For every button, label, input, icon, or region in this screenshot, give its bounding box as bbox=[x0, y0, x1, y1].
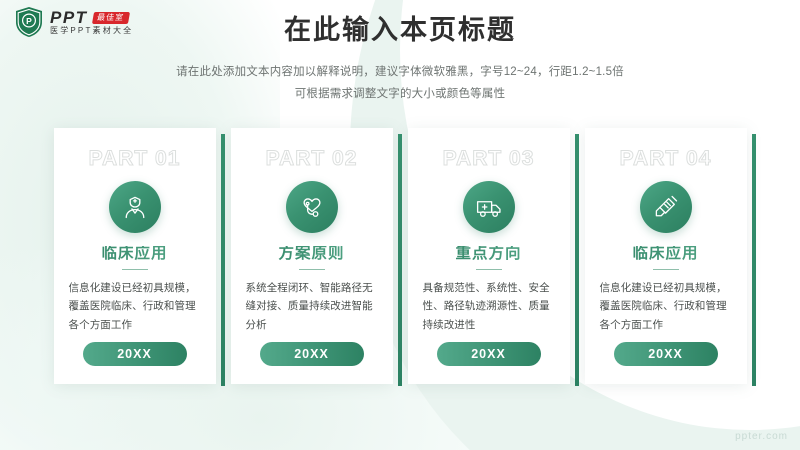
doctor-icon bbox=[121, 193, 149, 221]
card-heading: 方案原则 bbox=[243, 246, 381, 262]
page-subtitle-line-2: 可根据需求调整文字的大小或颜色等属性 bbox=[0, 84, 800, 105]
card-divider bbox=[122, 269, 148, 271]
card-body-text: 系统全程闭环、智能路径无缝对接、质量持续改进智能分析 bbox=[243, 279, 381, 334]
syringe-icon bbox=[652, 193, 680, 221]
page-subtitle: 请在此处添加文本内容加以解释说明，建议字体微软雅黑，字号12~24，行距1.2~… bbox=[0, 62, 800, 105]
page-subtitle-line-1: 请在此处添加文本内容加以解释说明，建议字体微软雅黑，字号12~24，行距1.2~… bbox=[0, 62, 800, 83]
card-part-label: PART 01 bbox=[66, 148, 204, 169]
logo-brand-text: PPT bbox=[50, 9, 88, 26]
card-year-pill[interactable]: 20XX bbox=[260, 342, 364, 366]
logo-badge: 最佳室 bbox=[92, 12, 130, 24]
feature-card[interactable]: PART 01 临床应用 信息化建设已经初具规模，覆盖医院临床、行政和管理各个方… bbox=[54, 128, 216, 384]
feature-card[interactable]: PART 02 方案原则 系统全程闭环、智能路径无缝对接、质量持续改进智能分析 … bbox=[231, 128, 393, 384]
card-icon-badge bbox=[463, 181, 515, 233]
card-body-text: 具备规范性、系统性、安全性、路径轨迹溯源性、质量持续改进性 bbox=[420, 279, 558, 334]
card-divider bbox=[476, 269, 502, 271]
card-divider bbox=[653, 269, 679, 271]
ambulance-icon bbox=[475, 193, 503, 221]
card-accent-bar bbox=[752, 134, 756, 386]
card-body-text: 信息化建设已经初具规模，覆盖医院临床、行政和管理各个方面工作 bbox=[597, 279, 735, 334]
card-part-label: PART 02 bbox=[243, 148, 381, 169]
shield-letter: P bbox=[26, 16, 32, 26]
logo-tagline: 医学PPT素材大全 bbox=[50, 27, 133, 35]
card-year-pill[interactable]: 20XX bbox=[437, 342, 541, 366]
feature-card-row: PART 01 临床应用 信息化建设已经初具规模，覆盖医院临床、行政和管理各个方… bbox=[0, 128, 800, 384]
card-part-label: PART 03 bbox=[420, 148, 558, 169]
card-accent-bar bbox=[398, 134, 402, 386]
brand-logo[interactable]: P PPT 最佳室 医学PPT素材大全 bbox=[14, 6, 133, 38]
card-body-text: 信息化建设已经初具规模，覆盖医院临床、行政和管理各个方面工作 bbox=[66, 279, 204, 334]
card-year-pill[interactable]: 20XX bbox=[614, 342, 718, 366]
card-heading: 重点方向 bbox=[420, 246, 558, 262]
heart-stethoscope-icon bbox=[298, 193, 326, 221]
card-heading: 临床应用 bbox=[597, 246, 735, 262]
feature-card[interactable]: PART 03 重点方向 具备规范性、系统性、安全性、路径轨迹溯源性、质量持续改… bbox=[408, 128, 570, 384]
slide-canvas: P PPT 最佳室 医学PPT素材大全 在此输入本页标题 请在此处添加文本内容加… bbox=[0, 0, 800, 450]
card-heading: 临床应用 bbox=[66, 246, 204, 262]
card-icon-badge bbox=[640, 181, 692, 233]
card-accent-bar bbox=[575, 134, 579, 386]
card-part-label: PART 04 bbox=[597, 148, 735, 169]
card-icon-badge bbox=[109, 181, 161, 233]
card-divider bbox=[299, 269, 325, 271]
card-accent-bar bbox=[221, 134, 225, 386]
shield-icon: P bbox=[14, 6, 44, 38]
logo-wordmark: PPT 最佳室 医学PPT素材大全 bbox=[50, 9, 133, 35]
card-icon-badge bbox=[286, 181, 338, 233]
watermark: ppter.com bbox=[735, 431, 788, 442]
feature-card[interactable]: PART 04 临床应用 信息化建设已经初具规模，覆盖医院临床、行政和管理各个方… bbox=[585, 128, 747, 384]
card-year-pill[interactable]: 20XX bbox=[83, 342, 187, 366]
